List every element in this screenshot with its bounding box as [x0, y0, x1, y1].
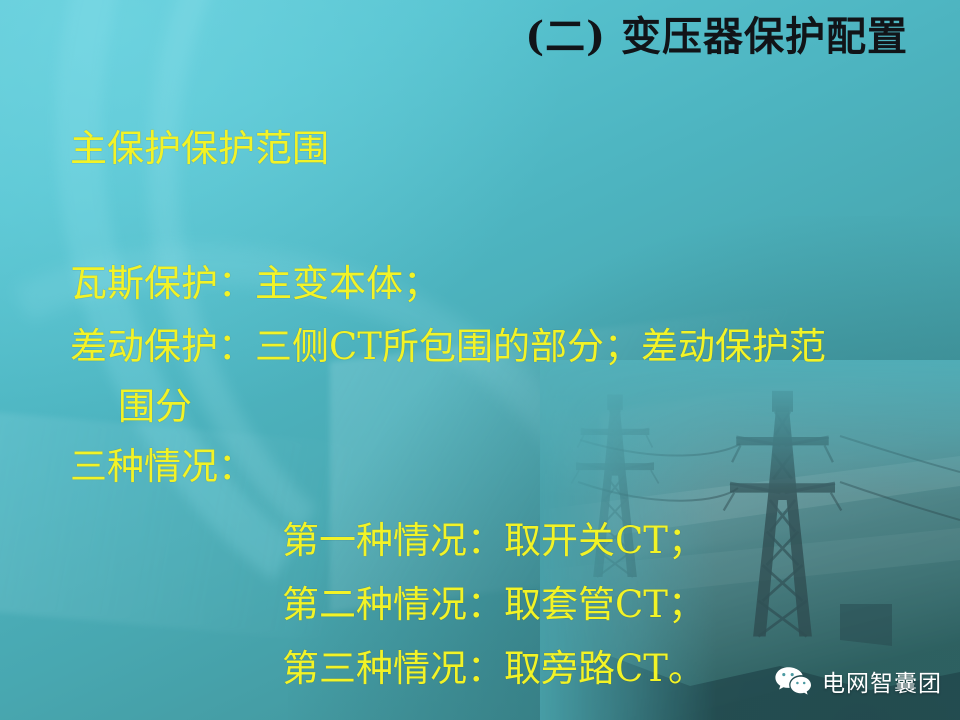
wechat-icon — [774, 665, 812, 697]
slide-canvas: (二) 变压器保护配置 主保护保护范围 瓦斯保护：主变本体； 差动保护：三侧CT… — [0, 0, 960, 720]
bullet-three-cases: 三种情况： — [70, 448, 255, 485]
slide-body: 主保护保护范围 瓦斯保护：主变本体； 差动保护：三侧CT所包围的部分；差动保护范… — [0, 0, 960, 720]
bullet-differential-protection-line2: 围分 — [118, 388, 192, 425]
case-item-1: 第一种情况：取开关CT； — [282, 522, 705, 559]
watermark-label: 电网智囊团 — [822, 664, 942, 698]
section-heading: 主保护保护范围 — [70, 130, 329, 167]
watermark: 电网智囊团 — [774, 664, 942, 698]
bullet-gas-protection: 瓦斯保护：主变本体； — [70, 265, 440, 302]
bullet-differential-protection-line1: 差动保护：三侧CT所包围的部分；差动保护范 — [70, 328, 826, 365]
case-item-2: 第二种情况：取套管CT； — [282, 586, 705, 623]
case-item-3: 第三种情况：取旁路CT。 — [282, 650, 705, 687]
